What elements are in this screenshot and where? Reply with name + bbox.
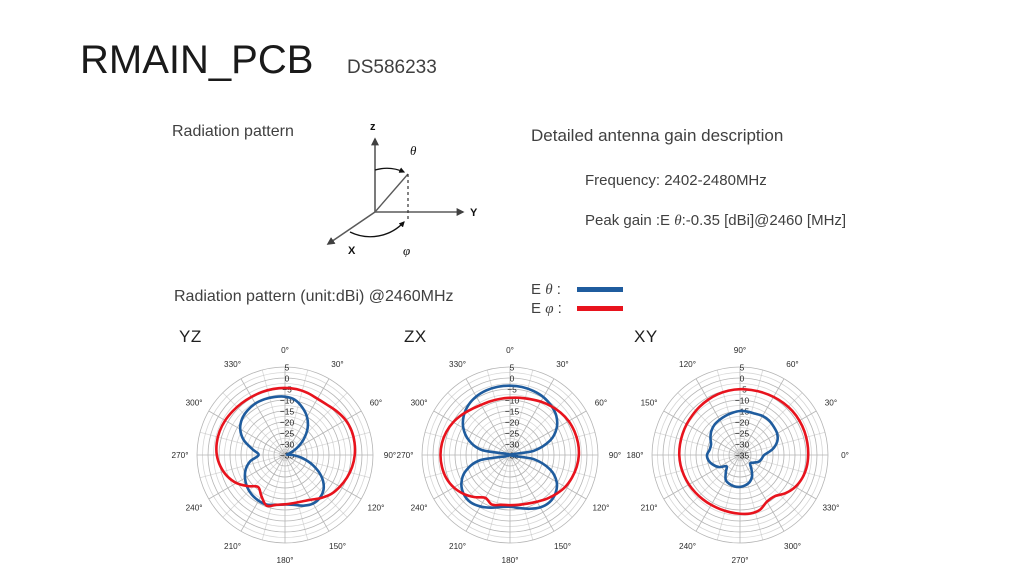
angle-label-phi: φ: [403, 243, 410, 257]
radial-tick-label: 5: [740, 363, 745, 373]
angle-tick-label: 120°: [592, 504, 609, 513]
legend-label-e-theta: E θ :: [531, 281, 573, 299]
radial-tick-label: −35: [735, 451, 750, 461]
polar-plot-yz: YZ 0°30°60°90°120°150°180°210°240°270°30…: [165, 325, 415, 575]
coordinate-axes-diagram: z Y X θ φ: [320, 112, 510, 257]
angle-tick-label: 60°: [786, 360, 798, 369]
angle-tick-label: 300°: [784, 542, 801, 551]
polar-chart-xy: 0°30°60°90°120°150°180°210°240°270°300°3…: [620, 343, 870, 578]
radial-tick-label: −30: [505, 440, 520, 450]
legend-label-e-phi: E φ :: [531, 300, 573, 318]
page-subtitle-code: DS586233: [347, 57, 437, 79]
peak-gain-suffix: :-0.35 [dBi]@2460 [MHz]: [682, 212, 846, 229]
radial-tick-label: −30: [735, 440, 750, 450]
radial-tick-label: −25: [280, 429, 295, 439]
angle-tick-label: 120°: [367, 504, 384, 513]
radial-tick-label: 0: [285, 374, 290, 384]
radial-tick-label: −25: [505, 429, 520, 439]
polar-chart-zx: 0°30°60°90°120°150°180°210°240°270°300°3…: [390, 343, 640, 578]
angle-tick-label: 30°: [825, 399, 837, 408]
legend: E θ : E φ :: [531, 281, 623, 317]
angle-tick-label: 330°: [822, 504, 839, 513]
radial-tick-label: 5: [285, 363, 290, 373]
angle-label-theta: θ: [410, 143, 417, 158]
radial-tick-label: 5: [510, 363, 515, 373]
peak-gain-prefix: Peak gain :E: [585, 212, 674, 229]
angle-tick-label: 180°: [502, 556, 519, 565]
angle-tick-label: 30°: [556, 360, 568, 369]
angle-tick-label: 150°: [329, 542, 346, 551]
angle-tick-label: 270°: [732, 556, 749, 565]
radial-tick-label: −25: [735, 429, 750, 439]
angle-tick-label: 210°: [641, 504, 658, 513]
angle-tick-label: 30°: [331, 360, 343, 369]
radial-tick-label: −20: [505, 418, 520, 428]
polar-chart-yz: 0°30°60°90°120°150°180°210°240°270°300°3…: [165, 343, 415, 578]
radial-tick-label: −15: [280, 407, 295, 417]
axis-label-z: z: [370, 121, 376, 133]
axis-label-Y: Y: [470, 207, 478, 219]
angle-tick-label: 270°: [397, 451, 414, 460]
radial-tick-label: −15: [505, 407, 520, 417]
angle-tick-label: 180°: [627, 451, 644, 460]
radiation-pattern-label: Radiation pattern: [172, 123, 294, 141]
radial-tick-label: 0: [740, 374, 745, 384]
angle-tick-label: 240°: [411, 504, 428, 513]
radial-tick-label: 0: [510, 374, 515, 384]
radial-tick-label: −20: [280, 418, 295, 428]
radial-tick-label: −20: [735, 418, 750, 428]
angle-tick-label: 0°: [506, 346, 514, 355]
angle-tick-label: 180°: [277, 556, 294, 565]
plots-section-title: Radiation pattern (unit:dBi) @2460MHz: [174, 288, 454, 306]
polar-plots-row: YZ 0°30°60°90°120°150°180°210°240°270°30…: [0, 325, 1031, 580]
angle-tick-label: 240°: [679, 542, 696, 551]
axis-label-X: X: [348, 245, 356, 257]
angle-tick-label: 0°: [281, 346, 289, 355]
angle-tick-label: 150°: [554, 542, 571, 551]
angle-tick-label: 60°: [370, 399, 382, 408]
polar-plot-zx: ZX 0°30°60°90°120°150°180°210°240°270°30…: [390, 325, 640, 575]
legend-swatch-e-theta: [577, 287, 623, 292]
angle-tick-label: 270°: [172, 451, 189, 460]
polar-plot-xy: XY 0°30°60°90°120°150°180°210°240°270°30…: [620, 325, 870, 575]
angle-tick-label: 120°: [679, 360, 696, 369]
angle-tick-label: 90°: [734, 346, 746, 355]
angle-tick-label: 300°: [186, 399, 203, 408]
radial-tick-label: −5: [282, 385, 292, 395]
description-peak-gain: Peak gain :E θ:-0.35 [dBi]@2460 [MHz]: [585, 212, 846, 230]
legend-item-e-theta: E θ :: [531, 281, 623, 298]
angle-tick-label: 300°: [411, 399, 428, 408]
description-frequency: Frequency: 2402-2480MHz: [585, 172, 767, 189]
legend-swatch-e-phi: [577, 306, 623, 311]
angle-tick-label: 150°: [641, 399, 658, 408]
page-title: RMAIN_PCB: [80, 40, 313, 80]
slide-page: RMAIN_PCB DS586233 Radiation pattern z Y…: [0, 0, 1031, 587]
radial-tick-label: −30: [280, 440, 295, 450]
legend-item-e-phi: E φ :: [531, 300, 623, 317]
angle-tick-label: 330°: [224, 360, 241, 369]
angle-tick-label: 210°: [224, 542, 241, 551]
radial-tick-label: −10: [735, 396, 750, 406]
peak-gain-theta-symbol: θ: [674, 213, 681, 229]
angle-tick-label: 0°: [841, 451, 849, 460]
angle-tick-label: 330°: [449, 360, 466, 369]
angle-tick-label: 60°: [595, 399, 607, 408]
angle-tick-label: 210°: [449, 542, 466, 551]
description-title: Detailed antenna gain description: [531, 126, 783, 146]
angle-tick-label: 240°: [186, 504, 203, 513]
